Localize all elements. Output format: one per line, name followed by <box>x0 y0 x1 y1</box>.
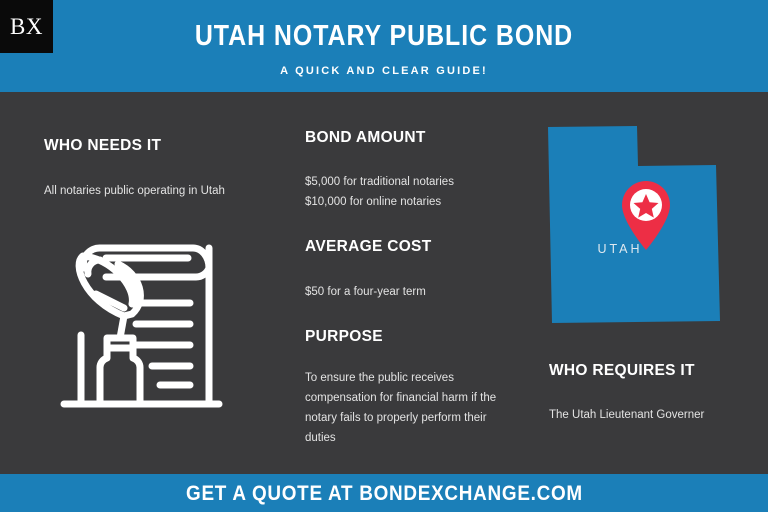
page-title: UTAH NOTARY PUBLIC BOND <box>54 22 714 51</box>
bondexchange-logo[interactable]: BX <box>0 0 53 53</box>
who-needs-it-heading: WHO NEEDS IT <box>44 138 161 154</box>
who-requires-it-heading: WHO REQUIRES IT <box>549 363 695 379</box>
who-requires-it-body: The Utah Lieutenant Governer <box>549 405 704 425</box>
footer-cta-text: GET A QUOTE AT BONDEXCHANGE.COM <box>186 483 583 504</box>
bond-amount-traditional: $5,000 for traditional notaries <box>305 172 454 192</box>
bond-amount-online: $10,000 for online notaries <box>305 192 441 212</box>
bond-amount-heading: BOND AMOUNT <box>305 130 426 146</box>
who-needs-it-body: All notaries public operating in Utah <box>44 181 225 201</box>
infographic-canvas: BX UTAH NOTARY PUBLIC BOND A QUICK AND C… <box>0 0 768 512</box>
logo-text: BX <box>10 15 43 38</box>
page-subtitle: A QUICK AND CLEAR GUIDE! <box>0 66 768 77</box>
average-cost-body: $50 for a four-year term <box>305 282 426 302</box>
purpose-heading: PURPOSE <box>305 329 383 345</box>
utah-map-label: UTAH <box>560 243 680 256</box>
footer-cta-banner[interactable]: GET A QUOTE AT BONDEXCHANGE.COM <box>0 474 768 512</box>
average-cost-heading: AVERAGE COST <box>305 239 431 255</box>
scroll-quill-inkwell-icon <box>48 230 248 430</box>
utah-state-map <box>540 118 735 328</box>
purpose-body: To ensure the public receives compensati… <box>305 368 505 448</box>
